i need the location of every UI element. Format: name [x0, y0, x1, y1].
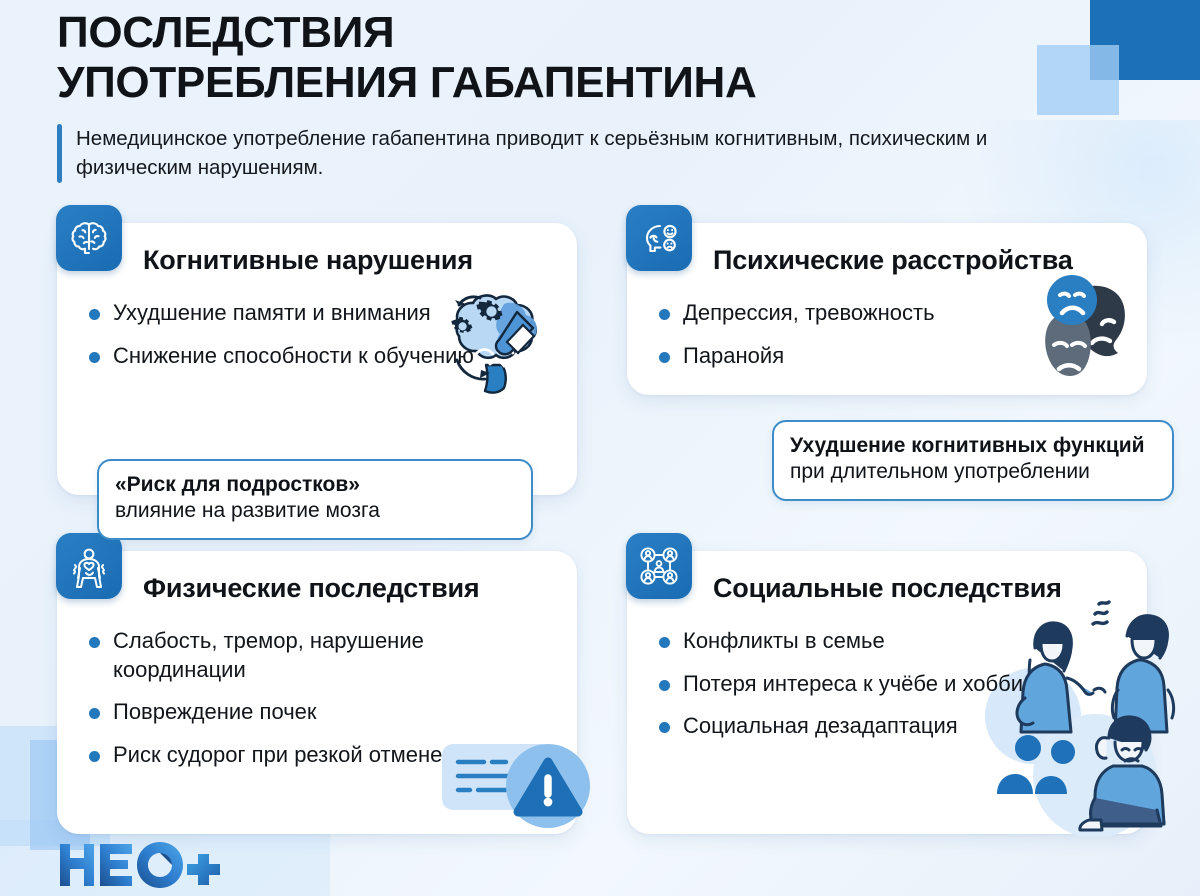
card-physical: Физические последствия Слабость, тремор,…: [57, 551, 577, 834]
subtitle-block: Немедицинское употребление габапентина п…: [57, 124, 1057, 182]
people-network-icon: [626, 533, 692, 599]
card-social-header: Социальные последствия: [627, 551, 1147, 625]
card-cognitive-bullets: Ухудшение памяти и внимания Снижение спо…: [57, 297, 577, 370]
callout-teens-regular: влияние на развитие мозга: [115, 498, 515, 524]
card-mental-header: Психические расстройства: [627, 223, 1147, 297]
callout-long-term-regular: при длительном употреблении: [790, 460, 1090, 483]
list-item: Социальная дезадаптация: [653, 712, 1073, 741]
card-physical-title: Физические последствия: [143, 573, 480, 604]
card-mental: Психические расстройства Депрессия, трев…: [627, 223, 1147, 395]
card-social-bullets: Конфликты в семье Потеря интереса к учёб…: [627, 625, 1147, 741]
header: ПОСЛЕДСТВИЯ УПОТРЕБЛЕНИЯ ГАБАПЕНТИНА Нем…: [57, 8, 1057, 183]
brand-logo: [58, 838, 226, 896]
list-item: Паранойя: [653, 342, 1073, 371]
card-physical-bullets: Слабость, тремор, нарушение координации …: [57, 625, 577, 769]
list-item: Конфликты в семье: [653, 627, 1073, 656]
card-mental-title: Психические расстройства: [713, 245, 1073, 276]
list-item: Снижение способности к обучению: [83, 342, 503, 371]
page-title: ПОСЛЕДСТВИЯ УПОТРЕБЛЕНИЯ ГАБАПЕНТИНА: [57, 8, 757, 108]
list-item: Ухудшение памяти и внимания: [83, 299, 503, 328]
infographic-root: ПОСЛЕДСТВИЯ УПОТРЕБЛЕНИЯ ГАБАПЕНТИНА Нем…: [0, 0, 1200, 896]
card-physical-header: Физические последствия: [57, 551, 577, 625]
callout-long-term: Ухудшение когнитивных функций при длител…: [772, 420, 1174, 501]
card-cognitive-title: Когнитивные нарушения: [143, 245, 473, 276]
callout-long-term-bold: Ухудшение когнитивных функций: [790, 434, 1145, 457]
card-mental-bullets: Депрессия, тревожность Паранойя: [627, 297, 1147, 370]
list-item: Потеря интереса к учёбе и хобби: [653, 670, 1073, 699]
list-item: Депрессия, тревожность: [653, 299, 1073, 328]
callout-teens-bold: «Риск для подростков»: [115, 472, 515, 498]
body-organs-icon: [56, 533, 122, 599]
callout-long-term-text: Ухудшение когнитивных функций при длител…: [790, 433, 1156, 486]
brain-icon: [56, 205, 122, 271]
list-item: Слабость, тремор, нарушение координации: [83, 627, 503, 684]
list-item: Риск судорог при резкой отмене: [83, 741, 503, 770]
head-emotions-icon: [626, 205, 692, 271]
page-subtitle: Немедицинское употребление габапентина п…: [76, 124, 1016, 182]
card-cognitive: Когнитивные нарушения Ухудшение памяти и…: [57, 223, 577, 495]
card-social-title: Социальные последствия: [713, 573, 1062, 604]
card-cognitive-header: Когнитивные нарушения: [57, 223, 577, 297]
list-item: Повреждение почек: [83, 698, 503, 727]
subtitle-accent-bar: [57, 124, 62, 182]
callout-teens: «Риск для подростков» влияние на развити…: [97, 459, 533, 540]
card-social: Социальные последствия Конфликты в семье…: [627, 551, 1147, 834]
